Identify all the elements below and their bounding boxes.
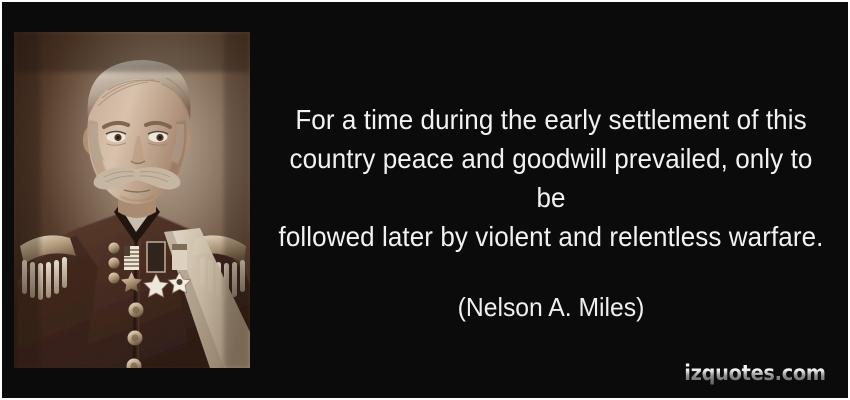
portrait-illustration [14, 32, 250, 368]
quote-attribution: (Nelson A. Miles) [273, 256, 830, 323]
portrait-photo [14, 32, 250, 368]
site-watermark: izquotes.com [685, 361, 826, 385]
quote-body: For a time during the early settlement o… [274, 100, 828, 256]
quote-text-panel: For a time during the early settlement o… [258, 2, 844, 400]
quote-card: For a time during the early settlement o… [0, 0, 850, 400]
